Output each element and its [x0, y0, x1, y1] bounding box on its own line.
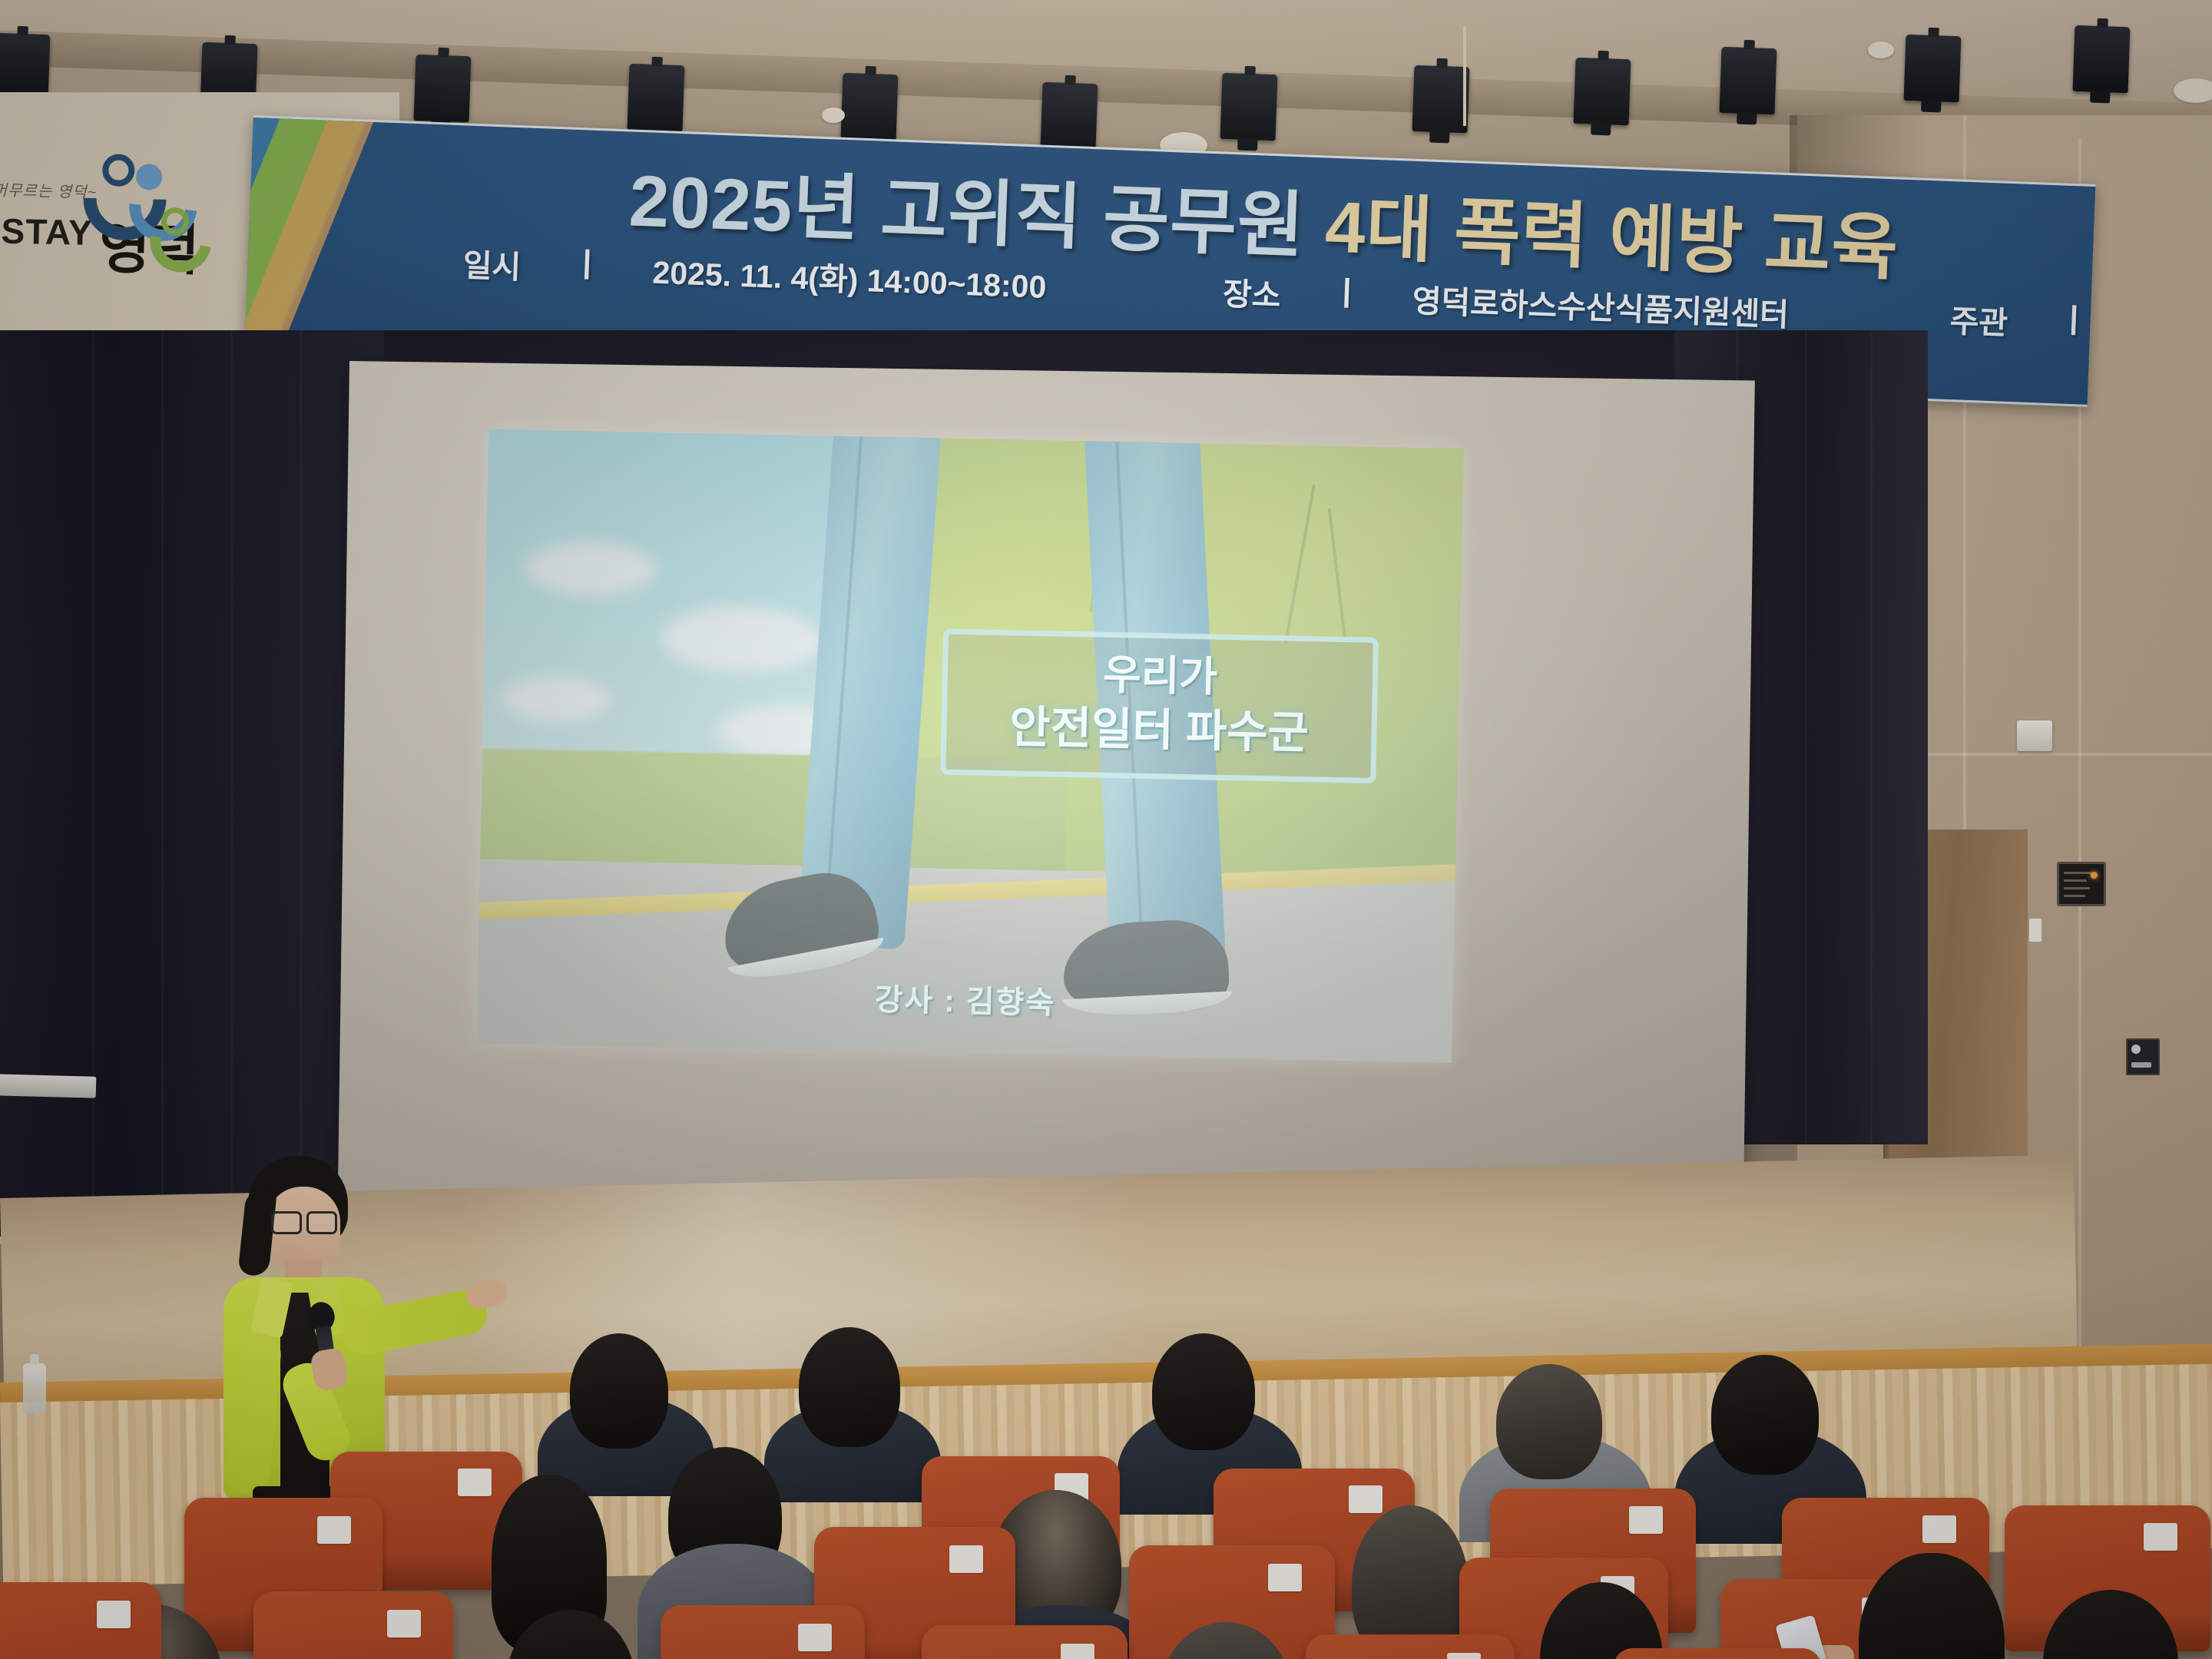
stage-light-icon — [414, 55, 472, 122]
seat-number-tag — [1061, 1644, 1094, 1659]
seat-number-tag — [458, 1469, 492, 1496]
audience-head — [799, 1327, 900, 1447]
projection-screen: 우리가 안전일터 파수군 강사 : 김향숙 — [337, 361, 1755, 1263]
stage-light-icon — [1720, 47, 1777, 114]
seat-number-tag — [1447, 1653, 1481, 1659]
stage-curtain-left — [0, 330, 384, 1237]
wall-vent — [0, 1074, 96, 1098]
seat-number-tag — [1922, 1515, 1956, 1543]
stage-light-icon — [0, 33, 50, 101]
hanging-wire — [1463, 26, 1466, 126]
stage-light-icon — [628, 64, 685, 131]
seat[interactable] — [661, 1605, 865, 1659]
auditorium-photo: 2025년 고위직 공무원 4대 폭력 예방 교육 일시 | 2025. 11.… — [0, 0, 2212, 1659]
banner-meta-sep: | — [1342, 272, 1352, 308]
stage-light-icon — [841, 73, 899, 141]
seat[interactable] — [0, 1582, 161, 1659]
seat-number-tag — [2144, 1523, 2177, 1551]
stage-light-icon — [2073, 25, 2131, 93]
banner-meta-label-place: 장소 — [1222, 268, 1282, 316]
seat[interactable] — [1306, 1634, 1515, 1659]
banner-title-part2: 4대 폭력 예방 교육 — [1323, 186, 1899, 288]
slide-caption-line2: 안전일터 파수군 — [954, 698, 1365, 762]
wall-light-icon — [2017, 720, 2052, 751]
ceiling-speaker-icon — [1868, 41, 1894, 58]
banner-meta-label-host: 주관 — [1949, 295, 2009, 343]
light-switch[interactable] — [2029, 919, 2041, 942]
seat-number-tag — [317, 1516, 351, 1544]
audience-head — [570, 1333, 668, 1449]
ceiling-speaker-icon — [822, 108, 845, 123]
slide-caption: 우리가 안전일터 파수군 — [940, 629, 1379, 783]
seat[interactable] — [253, 1591, 453, 1659]
seat-number-tag — [798, 1624, 832, 1651]
projected-slide: 우리가 안전일터 파수군 강사 : 김향숙 — [476, 429, 1464, 1063]
slide-caption-line1: 우리가 — [955, 647, 1366, 707]
logo-stay-text: STAY — [1, 210, 93, 253]
seat[interactable] — [1613, 1648, 1822, 1659]
seat-number-tag — [387, 1610, 421, 1637]
stage-light-icon — [1412, 65, 1470, 133]
panel-led-icon — [2091, 872, 2098, 879]
audience-head — [1496, 1364, 1602, 1479]
stay-yeongdeok-logo: 머무르는 영덕~ STAY 영덕 — [0, 139, 270, 298]
ceiling-speaker-icon — [2174, 78, 2212, 103]
stage-light-icon — [1574, 58, 1631, 125]
seat-number-tag — [97, 1601, 131, 1628]
presenter-hair-side — [237, 1190, 276, 1277]
banner-meta-sep: | — [2069, 300, 2079, 336]
seat-number-tag — [949, 1545, 983, 1573]
banner-meta-sep: | — [582, 243, 592, 280]
stage-light-icon — [1220, 73, 1278, 141]
stage-light-icon — [1904, 35, 1962, 102]
wall-control-panel[interactable] — [2057, 862, 2106, 906]
seat[interactable] — [922, 1625, 1128, 1659]
audience-seating — [0, 1352, 2212, 1659]
seat-number-tag — [1629, 1506, 1663, 1534]
presenter-glasses-icon — [271, 1211, 337, 1231]
seat-number-tag — [1268, 1564, 1302, 1591]
seat-number-tag — [1349, 1485, 1382, 1513]
audience-head — [1152, 1333, 1255, 1450]
banner-meta-label-date: 일시 — [462, 239, 522, 287]
audience-head — [1711, 1355, 1819, 1475]
stage-light-icon — [1041, 82, 1098, 150]
wall-outlet[interactable] — [2126, 1038, 2160, 1075]
